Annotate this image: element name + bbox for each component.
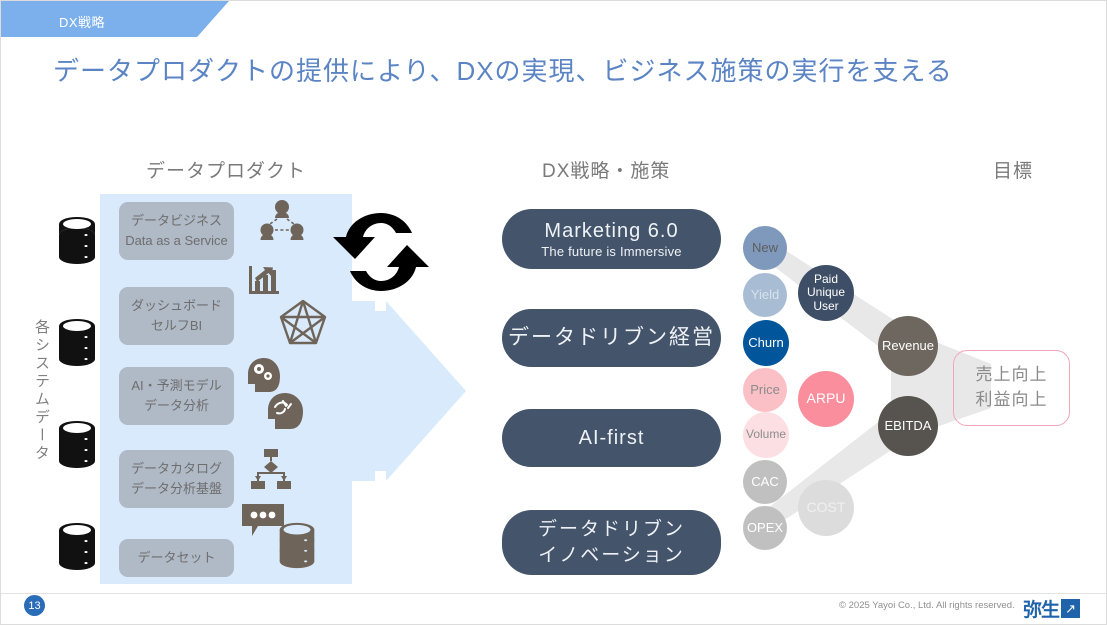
header-tab — [1, 1, 229, 37]
strategy-pill[interactable]: AI-first — [502, 409, 721, 467]
strategy-pill[interactable]: データドリブン イノベーション — [502, 510, 721, 575]
goal-line2: 利益向上 — [976, 388, 1048, 413]
sync-arrows-icon — [331, 207, 431, 297]
product-box[interactable]: データビジネス Data as a Service — [119, 202, 234, 260]
column-heading-dx-strategy: DX戦略・施策 — [542, 156, 670, 183]
kpi-node-label: EBITDA — [885, 419, 932, 434]
goal-callout: 売上向上 利益向上 — [953, 350, 1070, 426]
column-heading-data-product: データプロダクト — [146, 156, 306, 183]
strategy-pill[interactable]: データドリブン経営 — [502, 309, 721, 367]
head-brain-icon — [264, 391, 306, 431]
product-box-line1: データビジネス — [131, 213, 222, 228]
footer-divider — [1, 593, 1106, 594]
strategy-pill-title: データドリブン経営 — [508, 325, 715, 350]
slide-canvas: DX戦略 データプロダクトの提供により、DXの実現、ビジネス施策の実行を支える … — [0, 0, 1107, 625]
brand-logo: 弥生 ↗ — [1023, 595, 1080, 622]
system-data-label: 各システムデータ — [27, 319, 49, 463]
kpi-node[interactable]: Yield — [743, 273, 787, 317]
kpi-node[interactable]: EBITDA — [878, 396, 938, 456]
product-box-line2: データ分析基盤 — [119, 479, 234, 499]
kpi-node[interactable]: Churn — [743, 320, 789, 366]
kpi-node-label: Yield — [751, 288, 779, 303]
product-box-line1: データカタログ — [131, 461, 222, 476]
kpi-node-label: CAC — [751, 475, 778, 490]
kpi-node[interactable]: Revenue — [878, 316, 938, 376]
product-box-line1: ダッシュボード — [131, 298, 222, 313]
kpi-node-label: Price — [750, 383, 780, 398]
right-block-arrow-icon — [331, 301, 466, 481]
database-icon — [56, 215, 98, 267]
bar-chart-growth-icon — [249, 266, 279, 296]
flowchart-icon — [249, 449, 293, 491]
kpi-node-label: Paid Unique User — [798, 273, 854, 313]
kpi-node[interactable]: COST — [798, 480, 854, 536]
kpi-node-label: Revenue — [882, 339, 934, 354]
brand-arrow-icon: ↗ — [1061, 599, 1080, 618]
product-box[interactable]: ダッシュボード セルフBI — [119, 287, 234, 345]
kpi-node[interactable]: Price — [743, 368, 787, 412]
kpi-node[interactable]: Volume — [743, 412, 789, 458]
column-heading-goal: 目標 — [993, 156, 1033, 183]
product-box-line2: セルフBI — [119, 316, 234, 336]
page-title: データプロダクトの提供により、DXの実現、ビジネス施策の実行を支える — [53, 51, 953, 88]
kpi-node-label: Churn — [748, 336, 783, 351]
brand-name: 弥生 — [1023, 595, 1059, 622]
strategy-pill-subtitle: The future is Immersive — [541, 244, 681, 259]
user-network-icon — [259, 199, 305, 245]
database-icon — [276, 521, 318, 571]
kpi-node[interactable]: ARPU — [798, 371, 854, 427]
product-box[interactable]: データセット — [119, 539, 234, 577]
strategy-pill-title: AI-first — [579, 426, 645, 450]
strategy-pill[interactable]: Marketing 6.0 The future is Immersive — [502, 209, 721, 269]
goal-line1: 売上向上 — [976, 363, 1048, 388]
kpi-node-label: ARPU — [807, 391, 846, 407]
product-box[interactable]: AI・予測モデル データ分析 — [119, 367, 234, 425]
head-gears-icon — [244, 356, 284, 394]
product-box[interactable]: データカタログ データ分析基盤 — [119, 450, 234, 508]
radar-chart-icon — [278, 298, 328, 346]
database-icon — [56, 419, 98, 471]
database-icon — [56, 521, 98, 573]
kpi-node-label: Volume — [746, 428, 786, 441]
product-box-line1: データセット — [137, 550, 215, 565]
product-box-line2: データ分析 — [119, 396, 234, 416]
kpi-node[interactable]: CAC — [743, 460, 787, 504]
kpi-node[interactable]: New — [743, 226, 787, 270]
product-box-line2: Data as a Service — [119, 231, 234, 251]
strategy-pill-title: Marketing 6.0 — [544, 219, 678, 243]
strategy-pill-title: データドリブン — [538, 517, 685, 543]
kpi-node-label: COST — [807, 500, 846, 516]
kpi-node[interactable]: OPEX — [743, 506, 787, 550]
page-number-badge: 13 — [24, 595, 45, 616]
product-box-line1: AI・予測モデル — [131, 378, 221, 393]
kpi-node-label: New — [752, 241, 778, 256]
copyright-text: © 2025 Yayoi Co., Ltd. All rights reserv… — [839, 600, 1015, 611]
header-tab-label: DX戦略 — [59, 12, 105, 31]
strategy-pill-subtitle: イノベーション — [538, 543, 685, 569]
database-icon — [56, 317, 98, 369]
kpi-node[interactable]: Paid Unique User — [798, 265, 854, 321]
kpi-node-label: OPEX — [747, 521, 783, 536]
